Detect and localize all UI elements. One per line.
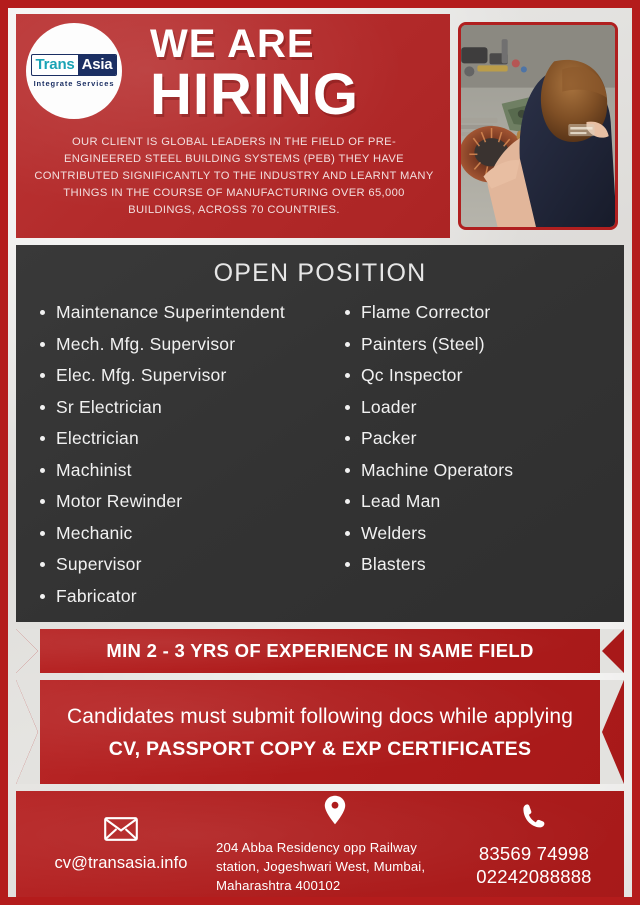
- logo-text-asia: Asia: [78, 55, 117, 75]
- company-logo: Trans Asia Integrate Services: [26, 23, 122, 119]
- positions-column-right: Flame Corrector Painters (Steel) Qc Insp…: [313, 297, 618, 612]
- list-item: Fabricator: [38, 581, 313, 613]
- list-item: Motor Rewinder: [38, 486, 313, 518]
- list-item: Sr Electrician: [38, 392, 313, 424]
- list-item: Flame Corrector: [343, 297, 618, 329]
- list-item: Machinist: [38, 455, 313, 487]
- ribbon2-notch-right-icon: [600, 680, 624, 784]
- list-item: Mech. Mfg. Supervisor: [38, 329, 313, 361]
- contact-address-block: 204 Abba Residency opp Railway station, …: [216, 795, 454, 895]
- list-item: Blasters: [343, 549, 618, 581]
- map-pin-icon: [324, 795, 346, 830]
- list-item: Mechanic: [38, 518, 313, 550]
- headline-we-are: WE ARE: [128, 24, 450, 64]
- documents-intro-text: Candidates must submit following docs wh…: [67, 703, 573, 730]
- contact-address-text: 204 Abba Residency opp Railway station, …: [216, 838, 454, 895]
- logo-wordmark: Trans Asia: [31, 54, 118, 76]
- poster-frame: Trans Asia Integrate Services WE ARE HIR…: [0, 0, 640, 905]
- worker-photo-illustration: [461, 25, 615, 227]
- header-description: OUR CLIENT IS GLOBAL LEADERS IN THE FIEL…: [34, 134, 434, 219]
- list-item: Qc Inspector: [343, 360, 618, 392]
- experience-banner-text: MIN 2 - 3 YRS OF EXPERIENCE IN SAME FIEL…: [106, 640, 533, 662]
- logo-tagline: Integrate Services: [34, 79, 115, 88]
- positions-list-right: Flame Corrector Painters (Steel) Qc Insp…: [343, 297, 618, 581]
- list-item: Lead Man: [343, 486, 618, 518]
- list-item: Welders: [343, 518, 618, 550]
- logo-text-trans: Trans: [32, 55, 78, 75]
- contact-footer: cv@transasia.info 204 Abba Residency opp…: [16, 791, 624, 897]
- open-positions-title: OPEN POSITION: [22, 259, 618, 288]
- poster-header: Trans Asia Integrate Services WE ARE HIR…: [16, 14, 624, 238]
- documents-list-text: CV, PASSPORT COPY & EXP CERTIFICATES: [109, 738, 532, 761]
- contact-phone-primary[interactable]: 83569 74998: [479, 842, 589, 865]
- poster-paper: Trans Asia Integrate Services WE ARE HIR…: [8, 8, 632, 897]
- worker-photo: [458, 22, 618, 230]
- ribbon-notch-right-icon: [600, 629, 624, 673]
- contact-phone-block[interactable]: 83569 74998 02242088888: [454, 803, 614, 888]
- positions-list-left: Maintenance Superintendent Mech. Mfg. Su…: [38, 297, 313, 612]
- shirt-logo: [568, 124, 594, 136]
- positions-columns: Maintenance Superintendent Mech. Mfg. Su…: [22, 297, 618, 612]
- list-item: Maintenance Superintendent: [38, 297, 313, 329]
- list-item: Packer: [343, 423, 618, 455]
- list-item: Elec. Mfg. Supervisor: [38, 360, 313, 392]
- list-item: Electrician: [38, 423, 313, 455]
- documents-banner: Candidates must submit following docs wh…: [16, 680, 624, 784]
- headline-hiring: HIRING: [128, 66, 450, 124]
- list-item: Loader: [343, 392, 618, 424]
- contact-email-text[interactable]: cv@transasia.info: [54, 854, 187, 873]
- positions-column-left: Maintenance Superintendent Mech. Mfg. Su…: [22, 297, 313, 612]
- list-item: Painters (Steel): [343, 329, 618, 361]
- contact-phone-secondary[interactable]: 02242088888: [476, 865, 591, 888]
- header-red-block: Trans Asia Integrate Services WE ARE HIR…: [16, 14, 450, 238]
- list-item: Machine Operators: [343, 455, 618, 487]
- open-positions-panel: OPEN POSITION Maintenance Superintendent…: [16, 245, 624, 622]
- contact-email-block[interactable]: cv@transasia.info: [26, 817, 216, 873]
- ribbon2-notch-left-icon: [16, 680, 40, 784]
- envelope-icon: [104, 817, 138, 846]
- phone-icon: [522, 803, 546, 834]
- experience-banner: MIN 2 - 3 YRS OF EXPERIENCE IN SAME FIEL…: [16, 629, 624, 673]
- list-item: Supervisor: [38, 549, 313, 581]
- ribbon-notch-left-icon: [16, 629, 40, 673]
